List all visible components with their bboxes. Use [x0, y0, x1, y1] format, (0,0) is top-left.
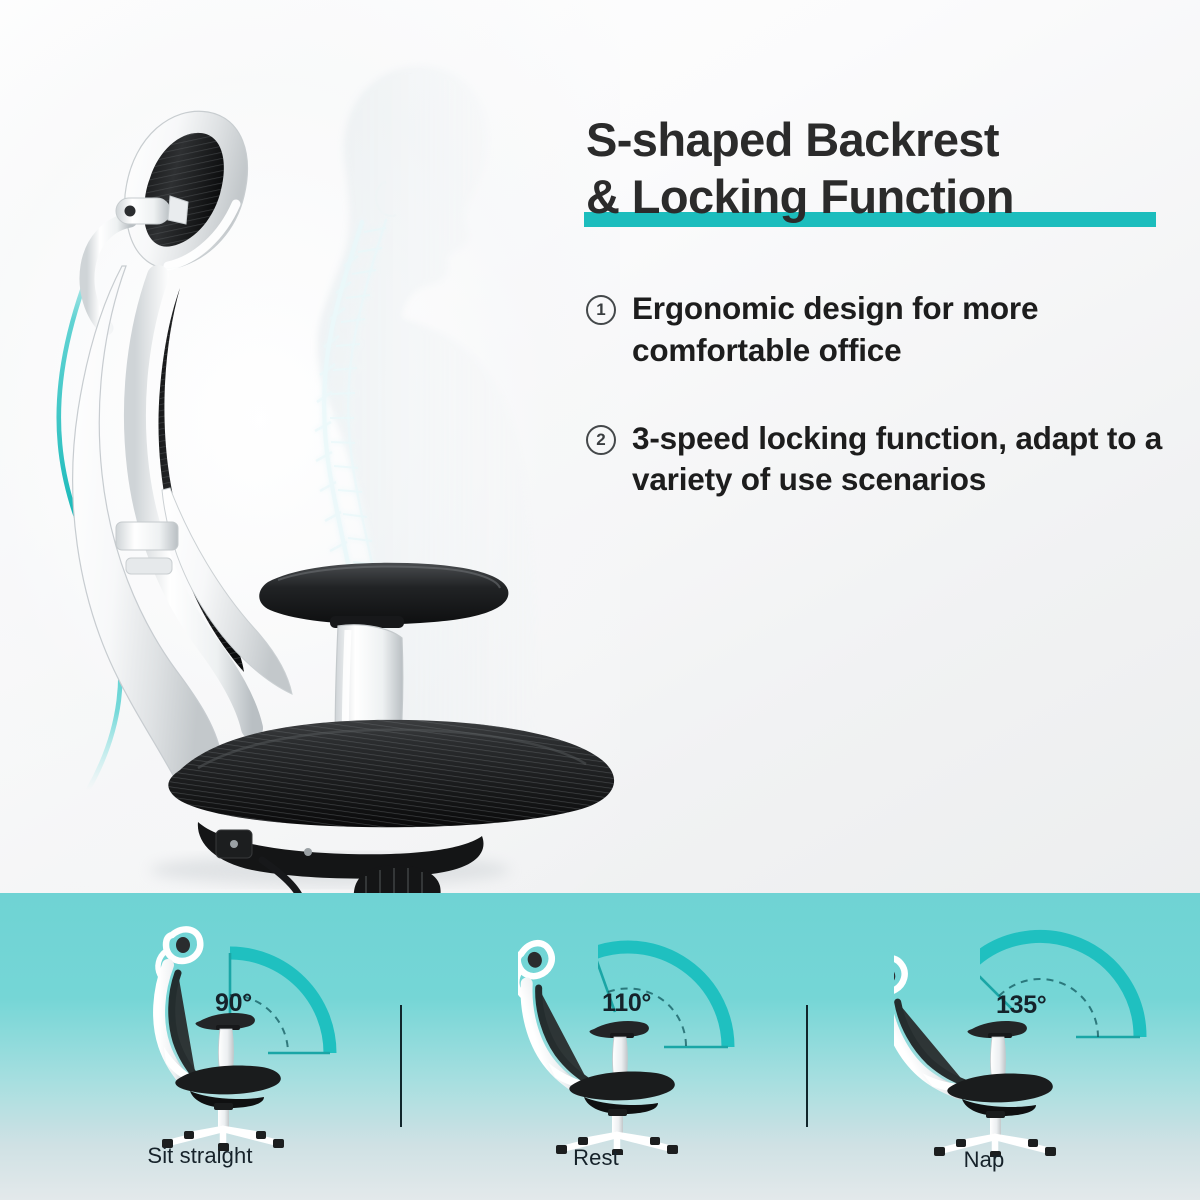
- feature-list: 1 Ergonomic design for more comfortable …: [586, 288, 1186, 502]
- infographic-page: S-shaped Backrest & Locking Function 1 E…: [0, 0, 1200, 1200]
- chair-upright-90: [128, 921, 308, 1151]
- feature-text: Ergonomic design for more comfortable of…: [632, 288, 1186, 372]
- recline-angles-panel: 90°: [0, 893, 1200, 1200]
- bullet-number-icon: 2: [586, 425, 616, 455]
- ergonomic-office-chair-side-view: [30, 70, 670, 893]
- page-title: S-shaped Backrest & Locking Function: [586, 112, 1186, 226]
- feature-text: 3-speed locking function, adapt to a var…: [632, 418, 1186, 502]
- panel-divider: [400, 1005, 402, 1127]
- copy-block: S-shaped Backrest & Locking Function 1 E…: [586, 112, 1186, 547]
- pose-caption: Nap: [854, 1147, 1114, 1173]
- pose-nap: 135°: [872, 893, 1200, 1200]
- pose-caption: Rest: [466, 1145, 726, 1171]
- title-line-2: & Locking Function: [586, 169, 1186, 226]
- list-item: 2 3-speed locking function, adapt to a v…: [586, 418, 1186, 502]
- list-item: 1 Ergonomic design for more comfortable …: [586, 288, 1186, 372]
- pose-sit-straight: 90°: [60, 893, 400, 1200]
- chair-reclined-110: [518, 925, 698, 1155]
- chair-reclined-135: [894, 927, 1074, 1157]
- title-line-1: S-shaped Backrest: [586, 112, 1186, 169]
- bullet-number-icon: 1: [586, 295, 616, 325]
- panel-divider: [806, 1005, 808, 1127]
- pose-caption: Sit straight: [70, 1143, 330, 1169]
- pose-rest: 110°: [466, 893, 806, 1200]
